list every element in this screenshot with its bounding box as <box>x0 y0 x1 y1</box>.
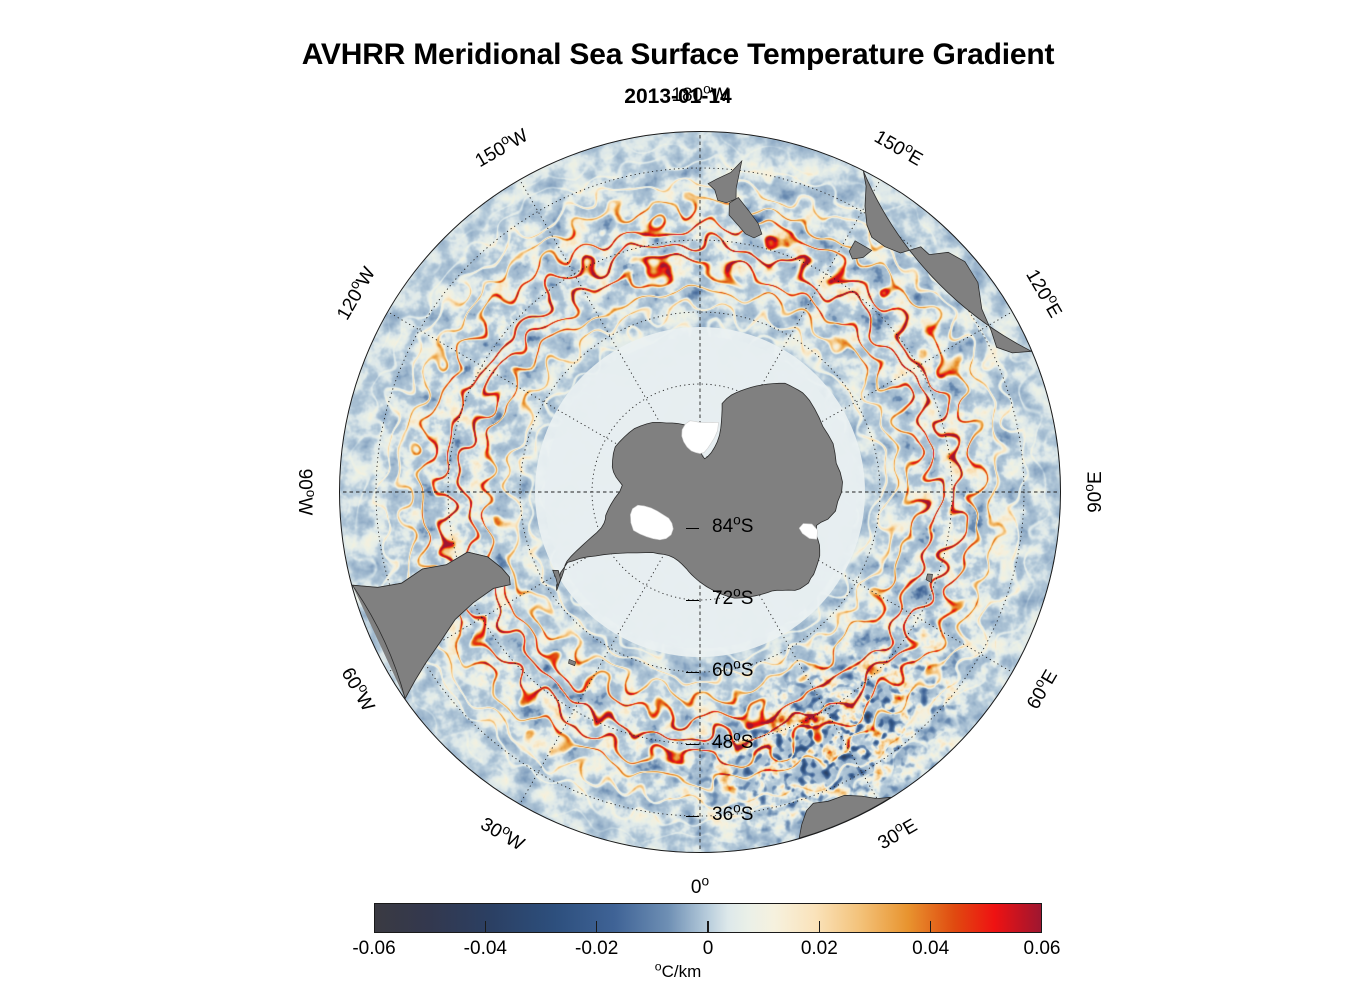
latitude-tick <box>686 600 699 601</box>
colorbar-unit-label: oC/km <box>0 962 1356 982</box>
page-title: AVHRR Meridional Sea Surface Temperature… <box>0 38 1356 72</box>
land-new-zealand-south <box>729 198 762 238</box>
colorbar-gradient <box>375 904 1041 932</box>
colorbar-tick-label: 0.06 <box>982 938 1102 960</box>
latitude-label-48S: 48oS <box>712 732 753 754</box>
land-tasmania <box>849 241 872 259</box>
longitude-label-0: 0o <box>691 877 709 899</box>
colorbar-tick-label: 0 <box>648 938 768 960</box>
latitude-label-36S: 36oS <box>712 804 753 826</box>
latitude-label-84S: 84oS <box>712 516 753 538</box>
latitude-tick <box>686 744 699 745</box>
colorbar[interactable] <box>374 903 1042 933</box>
colorbar-tick-label: -0.06 <box>314 938 434 960</box>
latitude-tick <box>686 672 699 673</box>
longitude-label-90W: 90oW <box>293 469 315 516</box>
longitude-label-90E: 90oE <box>1085 471 1107 512</box>
figure-root: AVHRR Meridional Sea Surface Temperature… <box>0 0 1356 1000</box>
colorbar-tick-label: -0.04 <box>425 938 545 960</box>
colorbar-tick-label: -0.02 <box>537 938 657 960</box>
colorbar-tick-label: 0.02 <box>759 938 879 960</box>
latitude-label-60S: 60oS <box>712 660 753 682</box>
map-disc <box>339 131 1061 853</box>
longitude-label-180W: 180oW <box>671 85 728 107</box>
latitude-tick <box>686 816 699 817</box>
land-south-georgia <box>569 659 576 665</box>
colorbar-tick-label: 0.04 <box>871 938 991 960</box>
land-africa <box>799 795 891 838</box>
land-new-zealand-north <box>708 161 742 203</box>
land-kerguelen <box>926 574 933 583</box>
map-geography <box>339 131 1061 853</box>
latitude-tick <box>686 528 699 529</box>
latitude-label-72S: 72oS <box>712 588 753 610</box>
polar-map[interactable] <box>339 131 1061 853</box>
land-australia <box>863 171 1031 353</box>
